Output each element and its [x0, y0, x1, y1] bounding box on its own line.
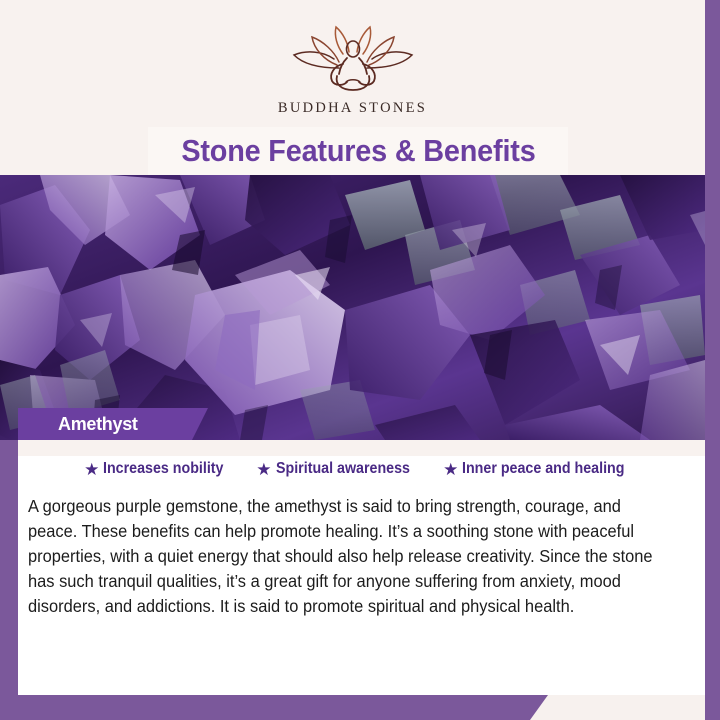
title-plate: Stone Features & Benefits: [148, 127, 568, 175]
stone-name: Amethyst: [58, 414, 138, 435]
benefit-item: ★ Inner peace and healing: [443, 460, 639, 478]
star-icon: ★: [443, 461, 458, 478]
amethyst-photo: [0, 175, 705, 440]
header: BUDDHA STONES Stone Features & Benefits: [0, 0, 705, 175]
benefits-list: ★ Increases nobility ★ Spiritual awarene…: [18, 460, 705, 478]
brand-name: BUDDHA STONES: [278, 100, 427, 117]
brand-logo: BUDDHA STONES: [0, 24, 705, 117]
benefit-label: Increases nobility: [103, 460, 223, 478]
stone-description: A gorgeous purple gemstone, the amethyst…: [28, 494, 659, 619]
page-title: Stone Features & Benefits: [181, 133, 535, 169]
content-top-strip: [18, 440, 705, 456]
benefit-label: Inner peace and healing: [462, 460, 624, 478]
content-panel: ★ Increases nobility ★ Spiritual awarene…: [18, 440, 705, 695]
decor-band-bottom: [0, 695, 548, 720]
benefit-item: ★ Spiritual awareness: [256, 460, 421, 478]
decor-band-left: [0, 440, 18, 695]
benefit-label: Spiritual awareness: [276, 460, 410, 478]
star-icon: ★: [256, 461, 271, 478]
amethyst-crystal-texture: [0, 175, 705, 440]
product-info-card: BUDDHA STONES Stone Features & Benefits: [0, 0, 720, 720]
decor-band-right: [705, 0, 720, 720]
star-icon: ★: [84, 461, 99, 478]
lotus-meditation-icon: [279, 24, 427, 94]
stone-name-banner: Amethyst: [18, 408, 208, 440]
benefit-item: ★ Increases nobility: [84, 460, 234, 478]
